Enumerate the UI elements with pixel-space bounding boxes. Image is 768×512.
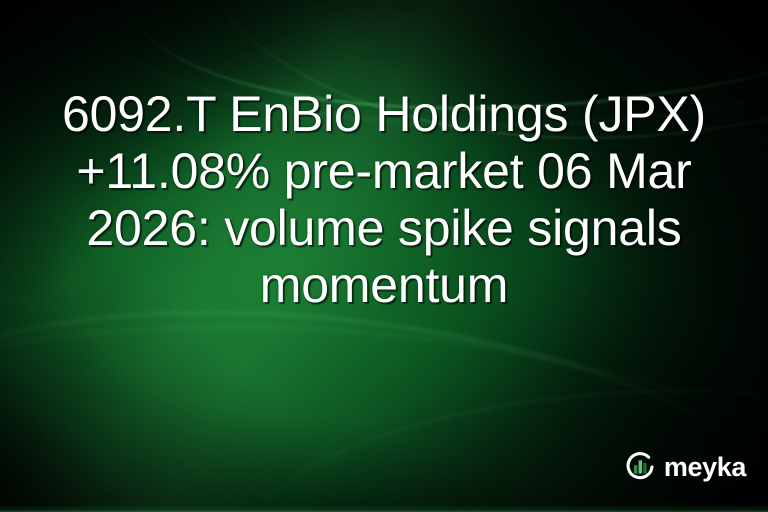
headline-card: 6092.T EnBio Holdings (JPX) +11.08% pre-… <box>0 0 768 512</box>
logo-wordmark: meyka <box>664 454 746 481</box>
bar-chart-ring-icon <box>623 450 657 484</box>
headline-block: 6092.T EnBio Holdings (JPX) +11.08% pre-… <box>0 86 768 314</box>
page-title: 6092.T EnBio Holdings (JPX) +11.08% pre-… <box>34 86 734 314</box>
swoosh-curve-bottom-thin <box>244 372 768 512</box>
meyka-logo[interactable]: meyka <box>623 450 746 484</box>
